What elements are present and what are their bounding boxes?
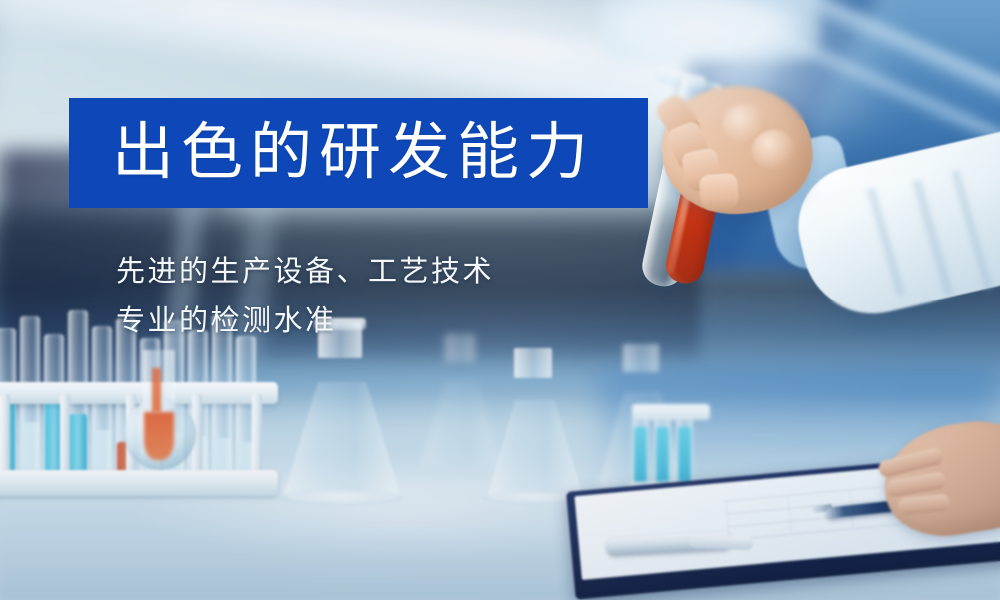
subtitle-line-1: 先进的生产设备、工艺技术 (116, 248, 636, 297)
subtitle-block: 先进的生产设备、工艺技术 专业的检测水准 (116, 248, 636, 346)
page-title: 出色的研发能力 (112, 122, 595, 184)
subtitle-line-2: 专业的检测水准 (116, 297, 636, 346)
hero-banner: 出色的研发能力 先进的生产设备、工艺技术 专业的检测水准 (0, 0, 1000, 600)
headline-banner: 出色的研发能力 (69, 98, 648, 208)
